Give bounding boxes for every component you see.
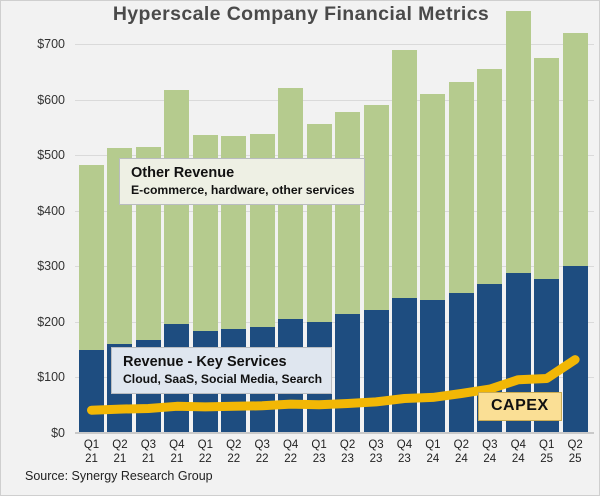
x-tick-label: Q124 <box>418 438 448 466</box>
x-tick-label: Q322 <box>247 438 277 466</box>
x-tick-year: 21 <box>133 452 163 466</box>
x-tick-year: 23 <box>361 452 391 466</box>
x-tick-label: Q225 <box>560 438 590 466</box>
x-tick-label: Q424 <box>503 438 533 466</box>
x-tick-year: 23 <box>304 452 334 466</box>
x-tick-quarter: Q2 <box>333 438 363 452</box>
x-tick-label: Q223 <box>333 438 363 466</box>
y-tick-600: $600 <box>7 93 65 107</box>
x-tick-year: 21 <box>162 452 192 466</box>
x-tick-quarter: Q2 <box>219 438 249 452</box>
x-tick-quarter: Q3 <box>247 438 277 452</box>
x-tick-year: 23 <box>333 452 363 466</box>
y-tick-500: $500 <box>7 148 65 162</box>
page-title: Hyperscale Company Financial Metrics <box>1 3 600 26</box>
source-caption: Source: Synergy Research Group <box>25 469 213 483</box>
x-tick-quarter: Q4 <box>162 438 192 452</box>
chart-frame: Hyperscale Company Financial Metrics $0$… <box>0 0 600 496</box>
y-tick-0: $0 <box>7 426 65 440</box>
x-tick-quarter: Q3 <box>475 438 505 452</box>
y-tick-400: $400 <box>7 204 65 218</box>
x-tick-label: Q422 <box>276 438 306 466</box>
x-tick-label: Q222 <box>219 438 249 466</box>
legend-callout-capex: CAPEX <box>478 392 562 421</box>
x-tick-label: Q221 <box>105 438 135 466</box>
x-tick-label: Q125 <box>532 438 562 466</box>
legend-other-revenue-sub: E-commerce, hardware, other services <box>131 182 355 198</box>
x-tick-year: 24 <box>503 452 533 466</box>
x-tick-quarter: Q4 <box>503 438 533 452</box>
legend-key-services-title: Revenue - Key Services <box>123 353 322 371</box>
x-tick-year: 25 <box>560 452 590 466</box>
x-tick-year: 21 <box>77 452 107 466</box>
legend-other-revenue-title: Other Revenue <box>131 164 355 182</box>
x-tick-label: Q224 <box>446 438 476 466</box>
y-tick-100: $100 <box>7 370 65 384</box>
x-tick-year: 22 <box>276 452 306 466</box>
x-tick-quarter: Q1 <box>77 438 107 452</box>
x-tick-label: Q323 <box>361 438 391 466</box>
x-tick-year: 22 <box>219 452 249 466</box>
x-tick-label: Q321 <box>133 438 163 466</box>
x-tick-year: 24 <box>475 452 505 466</box>
y-tick-300: $300 <box>7 259 65 273</box>
x-tick-year: 21 <box>105 452 135 466</box>
legend-callout-other-revenue: Other Revenue E-commerce, hardware, othe… <box>119 158 365 205</box>
x-tick-quarter: Q4 <box>389 438 419 452</box>
x-tick-quarter: Q2 <box>560 438 590 452</box>
x-tick-quarter: Q1 <box>304 438 334 452</box>
x-tick-label: Q123 <box>304 438 334 466</box>
x-tick-year: 24 <box>446 452 476 466</box>
x-tick-quarter: Q3 <box>361 438 391 452</box>
y-tick-700: $700 <box>7 37 65 51</box>
x-tick-quarter: Q1 <box>418 438 448 452</box>
x-tick-label: Q324 <box>475 438 505 466</box>
x-tick-quarter: Q2 <box>446 438 476 452</box>
x-tick-label: Q121 <box>77 438 107 466</box>
x-tick-quarter: Q4 <box>276 438 306 452</box>
legend-capex-title: CAPEX <box>491 397 549 415</box>
x-tick-label: Q122 <box>190 438 220 466</box>
legend-callout-key-services: Revenue - Key Services Cloud, SaaS, Soci… <box>111 347 332 394</box>
x-tick-label: Q423 <box>389 438 419 466</box>
x-tick-quarter: Q3 <box>133 438 163 452</box>
legend-key-services-sub: Cloud, SaaS, Social Media, Search <box>123 371 322 387</box>
x-tick-quarter: Q1 <box>532 438 562 452</box>
x-tick-year: 24 <box>418 452 448 466</box>
x-tick-year: 22 <box>247 452 277 466</box>
x-tick-quarter: Q2 <box>105 438 135 452</box>
x-tick-label: Q421 <box>162 438 192 466</box>
x-tick-year: 23 <box>389 452 419 466</box>
y-tick-200: $200 <box>7 315 65 329</box>
x-tick-quarter: Q1 <box>190 438 220 452</box>
x-tick-year: 25 <box>532 452 562 466</box>
x-tick-year: 22 <box>190 452 220 466</box>
